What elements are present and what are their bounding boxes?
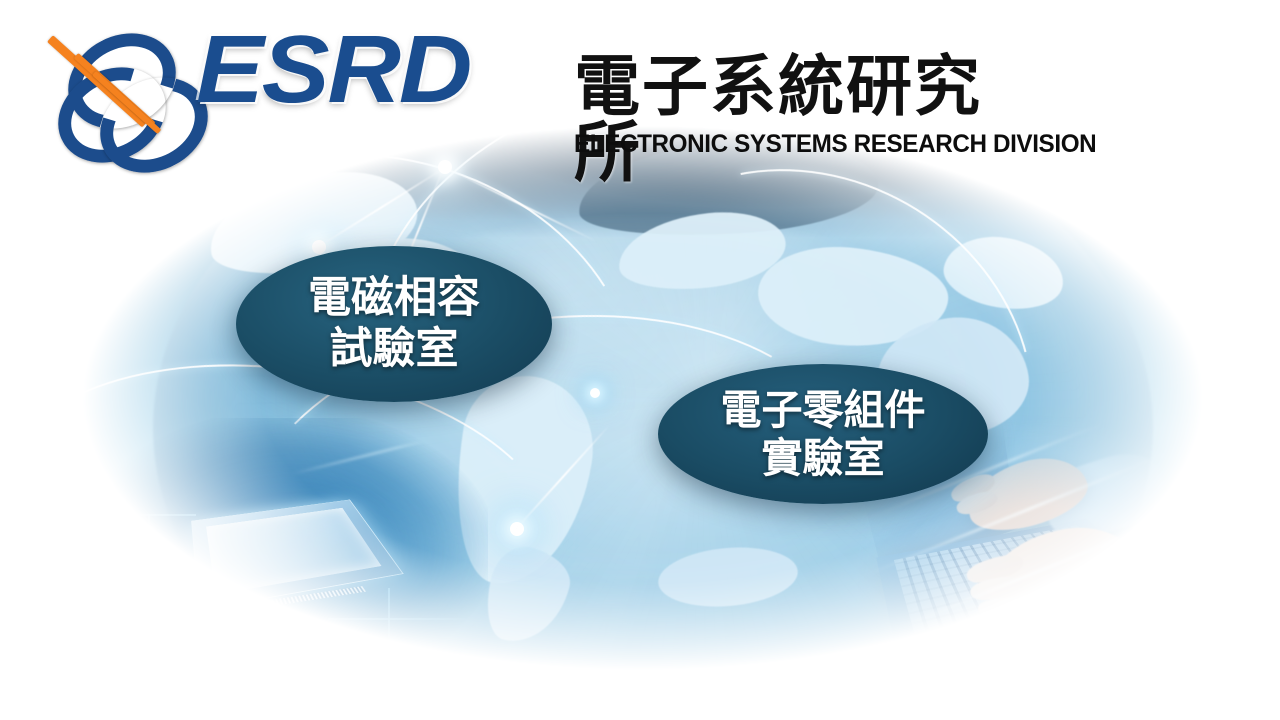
cpu-chip <box>191 500 404 611</box>
callout-comp-line1: 電子零組件 <box>721 386 926 434</box>
callout-emc-lab[interactable]: 電磁相容 試驗室 <box>236 246 552 402</box>
callout-comp-line2: 實驗室 <box>762 434 885 482</box>
logo-english-name: ELECTRONIC SYSTEMS RESEARCH DIVISION <box>574 130 1096 159</box>
network-node <box>590 388 600 398</box>
callout-emc-line1: 電磁相容 <box>308 273 480 324</box>
callout-electronic-components-lab[interactable]: 電子零組件 實驗室 <box>658 364 988 504</box>
network-node <box>64 314 74 324</box>
logo-acronym: ESRD <box>196 22 470 118</box>
slide-canvas: ESRD 電子系統研究所 ELECTRONIC SYSTEMS RESEARCH… <box>0 0 1280 720</box>
logo-chinese-name: 電子系統研究所 <box>574 54 1026 186</box>
circuit-board-graphic <box>88 418 488 678</box>
callout-emc-line2: 試驗室 <box>330 324 459 375</box>
orbit-comet-icon <box>32 18 192 158</box>
esrd-logo: ESRD 電子系統研究所 ELECTRONIC SYSTEMS RESEARCH… <box>26 14 1026 164</box>
